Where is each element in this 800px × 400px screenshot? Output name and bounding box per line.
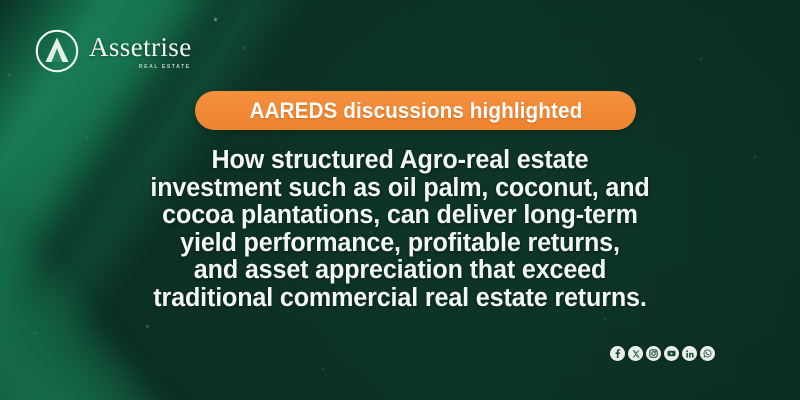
facebook-icon[interactable] xyxy=(610,346,625,361)
social-post-canvas: Assetrise REAL ESTATE AAREDS discussions… xyxy=(0,0,800,400)
highlight-badge[interactable]: AAREDS discussions highlighted xyxy=(195,91,636,130)
headline-line: How structured Agro-real estate xyxy=(47,147,752,175)
brand-subtitle: REAL ESTATE xyxy=(139,64,191,70)
sparkle-dot xyxy=(604,318,606,320)
brand-logo[interactable]: Assetrise REAL ESTATE xyxy=(34,28,192,74)
sparkle-dot xyxy=(8,74,11,76)
assetrise-triangle-monogram-icon xyxy=(34,28,80,74)
highlight-badge-label: AAREDS discussions highlighted xyxy=(249,98,582,124)
sparkle-dot xyxy=(86,137,88,139)
headline-block: How structured Agro-real estate investme… xyxy=(0,147,800,312)
sparkle-dot xyxy=(700,58,702,60)
instagram-icon[interactable] xyxy=(646,346,661,361)
sparkle-dot xyxy=(146,325,149,328)
brand-wordmark: Assetrise REAL ESTATE xyxy=(89,32,192,70)
headline-line: yield performance, profitable returns, xyxy=(47,230,752,258)
sparkle-dot xyxy=(243,47,245,49)
headline-line: investment such as oil palm, coconut, an… xyxy=(47,175,752,203)
social-links xyxy=(610,346,715,361)
linkedin-icon[interactable] xyxy=(682,346,697,361)
headline-line: and asset appreciation that exceed xyxy=(47,257,752,285)
x-twitter-icon[interactable] xyxy=(628,346,643,361)
brand-name: Assetrise xyxy=(89,34,192,61)
whatsapp-icon[interactable] xyxy=(700,346,715,361)
youtube-icon[interactable] xyxy=(664,346,679,361)
sparkle-dot xyxy=(322,368,324,370)
headline-line: cocoa plantations, can deliver long-term xyxy=(47,202,752,230)
sparkle-dot xyxy=(214,18,217,21)
sparkle-dot xyxy=(34,332,36,334)
headline-line: traditional commercial real estate retur… xyxy=(47,285,752,313)
